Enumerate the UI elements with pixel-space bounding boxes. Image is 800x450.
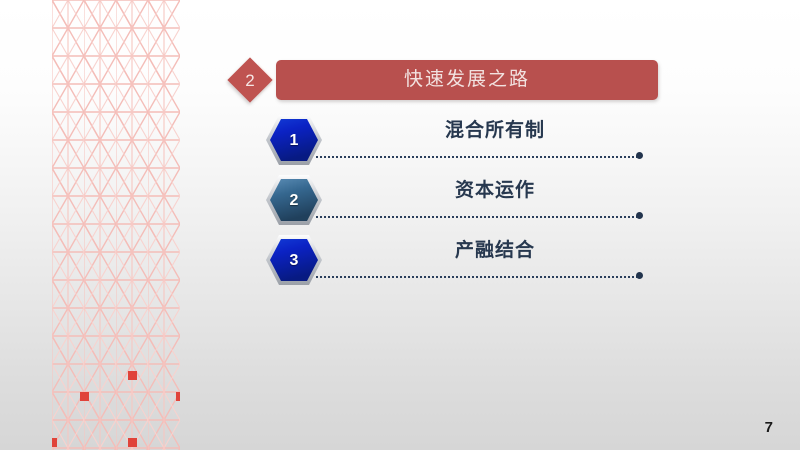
item-number-label: 1 — [264, 112, 324, 168]
item-label: 混合所有制 — [350, 116, 640, 146]
section-number-diamond: 2 — [228, 58, 272, 102]
item-number-label: 2 — [264, 172, 324, 228]
connector-end-dot — [636, 152, 643, 159]
connector-end-dot — [636, 272, 643, 279]
section-title-banner: 2 快速发展之路 — [228, 58, 658, 102]
list-item[interactable]: 2 资本运作 — [264, 172, 644, 228]
dotted-connector-line — [316, 216, 638, 221]
dotted-connector-line — [316, 156, 638, 161]
slide-canvas: 2 快速发展之路 — [0, 0, 800, 450]
connector-end-dot — [636, 212, 643, 219]
section-number-label: 2 — [228, 58, 272, 102]
item-label: 产融结合 — [350, 236, 640, 266]
page-title: 快速发展之路 — [276, 60, 658, 100]
decorative-lattice-band — [52, 0, 180, 450]
list-item[interactable]: 1 混合所有制 — [264, 112, 644, 168]
list-item[interactable]: 3 产融结合 — [264, 232, 644, 288]
item-number-label: 3 — [264, 232, 324, 288]
lattice-pattern-icon — [52, 0, 180, 450]
item-label: 资本运作 — [350, 176, 640, 206]
page-number: 7 — [765, 419, 773, 436]
dotted-connector-line — [316, 276, 638, 281]
